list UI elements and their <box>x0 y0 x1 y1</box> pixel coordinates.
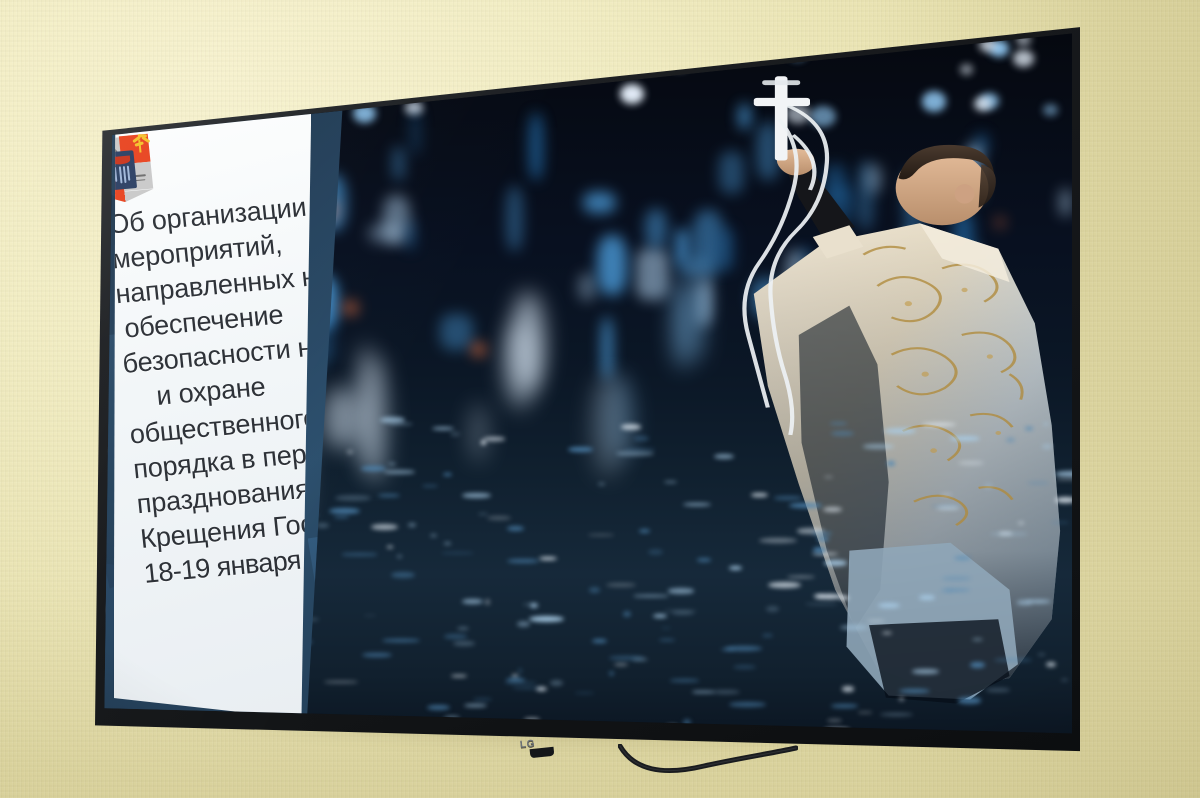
water-sparkle <box>805 603 838 605</box>
water-sparkle <box>940 589 953 592</box>
water-sparkle <box>697 558 712 562</box>
water-sparkle <box>824 560 847 566</box>
light-reflection <box>511 292 544 391</box>
water-sparkle <box>329 508 360 514</box>
palm-tree-icon <box>135 136 142 144</box>
water-sparkle <box>523 603 533 606</box>
water-sparkle <box>432 427 454 430</box>
water-sparkle <box>361 466 386 472</box>
water-sparkle <box>598 483 605 485</box>
water-sparkle <box>1038 654 1045 656</box>
water-sparkle <box>751 493 768 498</box>
water-sparkle <box>397 555 403 558</box>
water-sparkle <box>609 671 614 676</box>
water-sparkle <box>842 686 855 691</box>
tv-screen[interactable]: Об организации мероприятий, направленных… <box>103 27 1072 747</box>
bokeh-light <box>440 314 474 350</box>
water-sparkle <box>422 485 438 487</box>
bokeh-light <box>500 49 522 67</box>
water-sparkle <box>648 549 663 555</box>
water-sparkle <box>633 595 669 598</box>
bokeh-light <box>535 59 557 77</box>
slide-text-card: Об организации мероприятий, направленных… <box>114 103 312 719</box>
water-sparkle <box>589 587 601 593</box>
water-sparkle <box>507 526 524 531</box>
water-sparkle <box>342 553 377 555</box>
bokeh-light-warm <box>343 301 358 316</box>
water-sparkle <box>831 704 858 707</box>
water-sparkle <box>382 639 420 642</box>
water-sparkle <box>970 662 985 668</box>
water-sparkle <box>1056 479 1072 481</box>
water-sparkle <box>941 494 952 496</box>
water-sparkle <box>517 621 530 627</box>
water-sparkle <box>1055 471 1072 477</box>
water-sparkle <box>950 436 980 442</box>
slide-card-content: Об организации мероприятий, направленных… <box>103 96 342 726</box>
bokeh-light <box>157 85 169 95</box>
water-sparkle <box>1006 438 1015 442</box>
bokeh-light <box>565 54 590 75</box>
bokeh-light <box>368 224 401 243</box>
water-sparkle <box>887 461 895 466</box>
water-sparkle <box>840 625 869 630</box>
water-sparkle <box>507 559 539 564</box>
water-sparkle <box>575 692 594 694</box>
bokeh-light <box>378 54 403 75</box>
water-sparkle <box>378 494 399 497</box>
water-sparkle <box>481 440 486 445</box>
water-sparkle <box>823 507 842 512</box>
water-sparkle <box>484 437 505 440</box>
water-sparkle <box>457 627 469 630</box>
water-sparkle <box>614 663 628 666</box>
slide-title-text: Об организации мероприятий, направленных… <box>106 193 314 592</box>
water-sparkle <box>653 614 667 618</box>
water-sparkle <box>504 681 537 685</box>
water-sparkle <box>1027 482 1049 484</box>
water-sparkle <box>441 552 474 555</box>
water-sparkle <box>714 454 734 459</box>
bokeh-light <box>390 38 401 47</box>
water-sparkle <box>984 483 993 489</box>
water-sparkle <box>659 639 676 641</box>
bokeh-light <box>506 186 524 251</box>
water-sparkle <box>766 606 779 612</box>
power-cable <box>618 744 798 778</box>
bokeh-light <box>393 147 405 180</box>
water-sparkle <box>443 473 452 476</box>
water-sparkle <box>451 675 467 677</box>
water-sparkle <box>389 423 413 425</box>
water-sparkle <box>1046 662 1056 667</box>
bokeh-light <box>215 73 240 94</box>
water-sparkle <box>972 638 983 641</box>
water-sparkle <box>867 620 886 622</box>
water-sparkle <box>462 493 491 498</box>
water-sparkle <box>954 556 971 560</box>
water-sparkle <box>427 705 450 710</box>
water-sparkle <box>384 470 415 474</box>
water-sparkle <box>334 516 348 518</box>
water-sparkle <box>817 536 829 542</box>
water-sparkle <box>568 447 593 453</box>
water-sparkle <box>1055 497 1072 503</box>
water-sparkle <box>789 503 822 508</box>
water-sparkle <box>609 656 644 660</box>
bokeh-light <box>406 221 416 250</box>
water-sparkle <box>711 690 740 694</box>
water-sparkle <box>830 422 847 424</box>
water-sparkle <box>827 719 842 722</box>
bokeh-light <box>633 35 647 47</box>
water-sparkle <box>462 599 482 604</box>
water-sparkle <box>729 566 742 570</box>
water-sparkle <box>768 582 800 588</box>
bokeh-light <box>330 79 347 93</box>
bokeh-light <box>392 81 408 94</box>
water-sparkle <box>990 533 1028 536</box>
water-sparkle <box>787 576 816 578</box>
water-sparkle <box>362 653 392 657</box>
water-sparkle <box>878 603 900 608</box>
water-sparkle <box>391 572 416 578</box>
water-sparkle <box>668 588 694 593</box>
water-sparkle <box>762 634 773 637</box>
water-sparkle <box>670 679 699 682</box>
water-sparkle <box>661 627 671 629</box>
water-sparkle <box>812 532 832 535</box>
water-sparkle <box>625 448 655 450</box>
water-sparkle <box>958 461 984 465</box>
water-sparkle <box>664 481 678 483</box>
water-sparkle <box>729 702 765 707</box>
water-sparkle <box>884 428 917 434</box>
water-sparkle <box>774 496 802 499</box>
water-sparkle <box>485 599 490 605</box>
water-sparkle <box>364 615 376 617</box>
water-sparkle <box>335 495 371 501</box>
water-sparkle <box>831 431 854 436</box>
water-sparkle <box>994 658 1032 662</box>
water-sparkle <box>539 557 557 561</box>
water-sparkle <box>882 632 892 634</box>
water-sparkle <box>1018 522 1024 524</box>
water-sparkle <box>1025 427 1033 431</box>
water-sparkle <box>371 524 398 530</box>
water-sparkle <box>487 516 511 520</box>
water-sparkle <box>387 546 392 549</box>
water-sparkle <box>408 523 416 528</box>
water-sparkle <box>518 668 523 674</box>
bokeh-light <box>410 107 420 155</box>
water-sparkle <box>733 665 756 669</box>
water-sparkle <box>380 417 405 423</box>
bokeh-light <box>477 42 493 55</box>
water-sparkle <box>621 424 641 430</box>
water-sparkle <box>478 513 488 515</box>
water-sparkle <box>899 697 904 701</box>
water-sparkle <box>813 594 824 598</box>
water-sparkle <box>931 505 961 507</box>
water-sparkle <box>1061 679 1069 681</box>
water-sparkle <box>550 680 563 686</box>
water-sparkle <box>616 451 654 456</box>
water-sparkle <box>840 596 849 600</box>
water-sparkle <box>430 534 437 537</box>
water-sparkle <box>588 534 614 536</box>
room-scene: Об организации мероприятий, направленных… <box>0 0 1200 798</box>
water-sparkle <box>863 444 893 448</box>
water-sparkle <box>453 641 475 646</box>
lg-brand-logo: LG <box>519 738 535 751</box>
water-sparkle <box>464 704 487 707</box>
water-sparkle <box>919 595 934 599</box>
water-sparkle <box>824 476 833 478</box>
water-sparkle <box>450 432 460 437</box>
water-sparkle <box>473 698 492 701</box>
bokeh-light <box>670 55 688 70</box>
bokeh-light <box>235 45 260 65</box>
water-sparkle <box>347 450 353 454</box>
water-sparkle <box>922 423 957 426</box>
water-sparkle <box>912 669 939 674</box>
water-sparkle <box>812 553 838 555</box>
water-sparkle <box>1044 423 1048 425</box>
water-sparkle <box>942 576 971 582</box>
water-sparkle <box>529 616 565 622</box>
bokeh-light <box>157 96 171 107</box>
water-sparkle <box>880 713 913 716</box>
water-sparkle <box>592 639 607 643</box>
bokeh-light <box>623 59 636 70</box>
bokeh-light <box>404 70 417 81</box>
water-sparkle <box>858 712 872 714</box>
water-sparkle <box>444 634 467 639</box>
bokeh-light-warm <box>472 343 485 356</box>
water-sparkle <box>536 687 547 691</box>
water-sparkle <box>606 583 636 587</box>
water-sparkle <box>725 646 762 651</box>
water-sparkle <box>899 689 931 693</box>
water-sparkle <box>639 529 649 533</box>
water-sparkle <box>986 688 1010 692</box>
bokeh-light <box>529 113 543 180</box>
bokeh-light <box>301 55 313 65</box>
water-sparkle <box>623 611 631 617</box>
water-sparkle <box>692 691 714 694</box>
water-sparkle <box>324 681 358 684</box>
water-sparkle <box>759 538 797 543</box>
water-sparkle <box>1042 444 1053 449</box>
water-sparkle <box>634 436 649 441</box>
water-sparkle <box>1051 522 1069 524</box>
water-sparkle <box>388 463 396 465</box>
bokeh-light <box>645 63 656 72</box>
water-sparkle <box>958 697 981 703</box>
water-sparkle <box>444 542 451 544</box>
water-sparkle <box>683 503 711 507</box>
